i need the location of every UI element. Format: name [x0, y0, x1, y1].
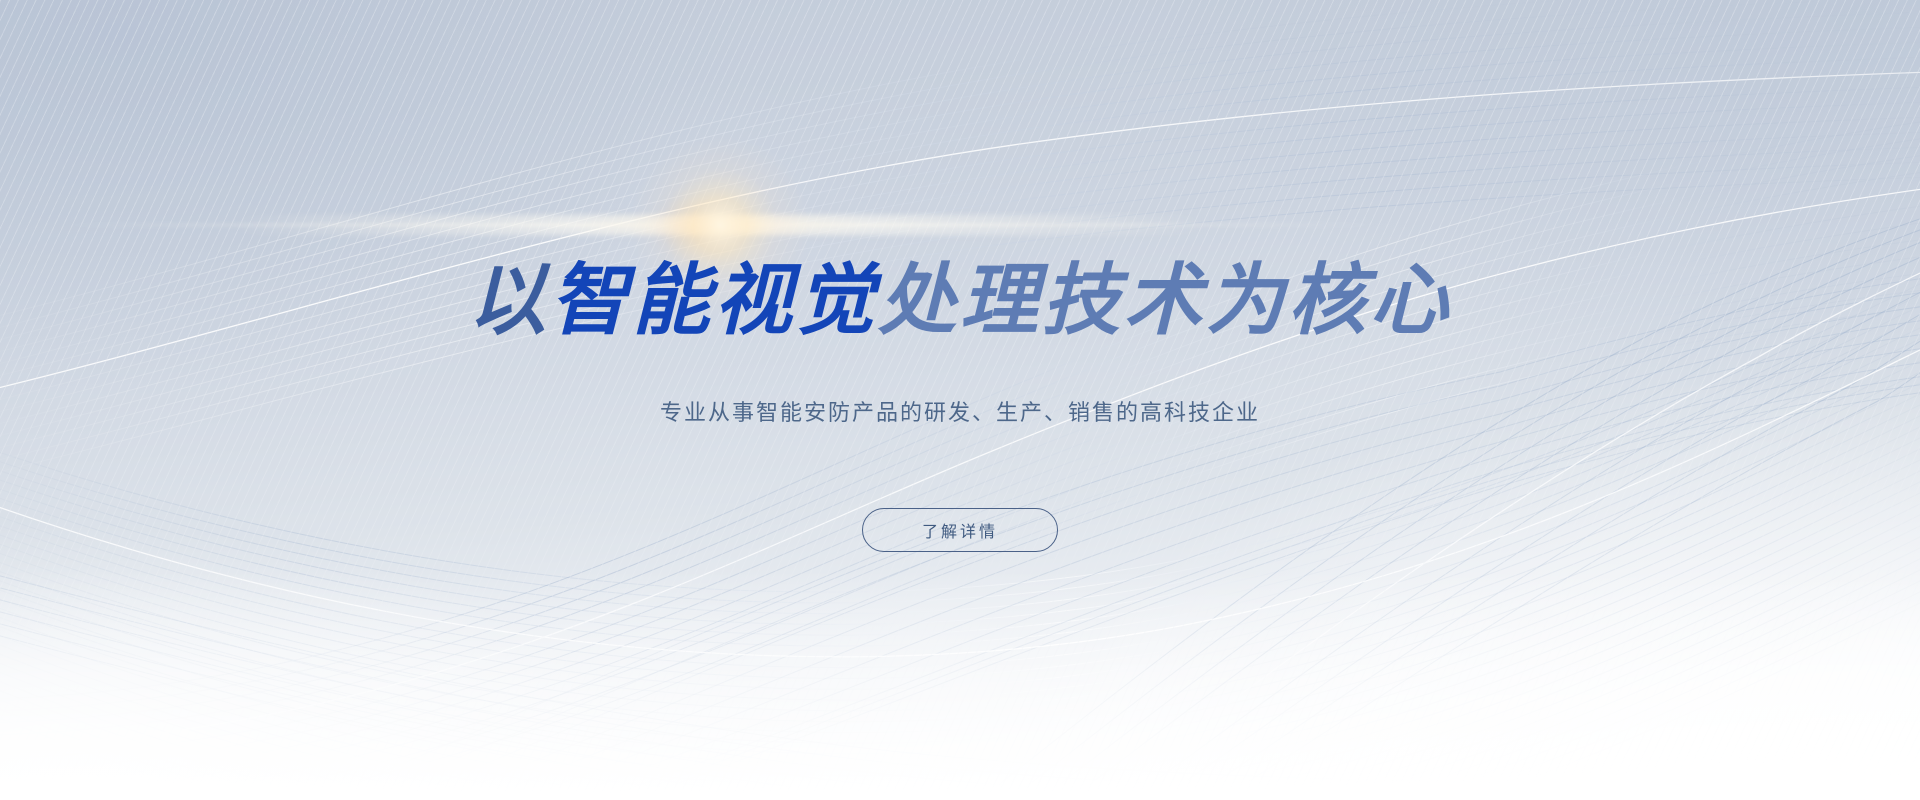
learn-more-button[interactable]: 了解详情 [862, 508, 1058, 552]
headline-segment-1: 以 [468, 262, 550, 340]
page-title: 以智能视觉处理技术为核心 [468, 262, 1452, 340]
hero-subtitle: 专业从事智能安防产品的研发、生产、销售的高科技企业 [660, 402, 1260, 424]
hero-banner: 以智能视觉处理技术为核心 专业从事智能安防产品的研发、生产、销售的高科技企业 了… [0, 0, 1920, 800]
headline-segment-3: 处理技术为核心 [878, 262, 1452, 340]
headline-segment-2: 智能视觉 [550, 262, 878, 340]
hero-content: 以智能视觉处理技术为核心 专业从事智能安防产品的研发、生产、销售的高科技企业 了… [0, 0, 1920, 800]
